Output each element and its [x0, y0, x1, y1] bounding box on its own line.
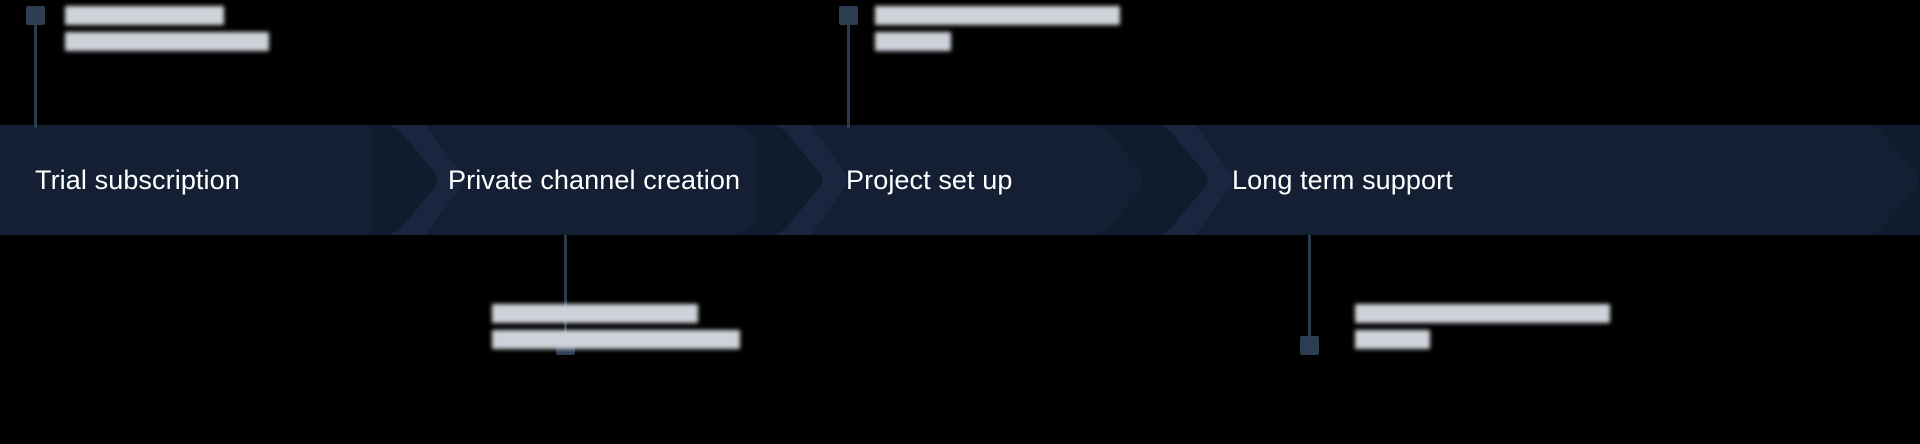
- annotation-1-marker: [26, 6, 45, 25]
- annotation-3-leader-line: [847, 18, 850, 128]
- annotation-4-line-1: [1355, 304, 1610, 323]
- stage-1-chevron[interactable]: Trial subscription: [0, 125, 402, 235]
- annotation-4-marker: [1300, 336, 1319, 355]
- diagram-canvas: Trial subscription Private channel creat…: [0, 0, 1920, 444]
- annotation-1: [0, 0, 400, 130]
- annotation-3-line-2: [875, 32, 951, 51]
- stage-2-chevron[interactable]: Private channel creation: [372, 125, 787, 235]
- stage-4-chevron[interactable]: Long term support: [1142, 125, 1920, 235]
- chevron-band: Trial subscription Private channel creat…: [0, 125, 1920, 235]
- annotation-4: [1200, 235, 1660, 444]
- annotation-2: [430, 235, 850, 444]
- annotation-1-leader-line: [34, 18, 37, 128]
- annotation-4-line-2: [1355, 330, 1430, 349]
- annotation-2-text: [492, 304, 740, 349]
- annotation-2-line-2: [492, 330, 740, 349]
- annotation-4-text: [1355, 304, 1610, 349]
- annotation-1-text: [65, 6, 269, 51]
- annotation-3-text: [875, 6, 1120, 51]
- annotation-3-line-1: [875, 6, 1120, 25]
- annotation-3: [820, 0, 1240, 130]
- annotation-1-line-2: [65, 32, 269, 51]
- annotation-3-marker: [839, 6, 858, 25]
- annotation-4-leader-line: [1308, 235, 1311, 343]
- annotation-2-line-1: [492, 304, 698, 323]
- stage-3-chevron[interactable]: Project set up: [757, 125, 1147, 235]
- stage-3-label: Project set up: [846, 165, 1013, 196]
- stage-4-label: Long term support: [1232, 165, 1453, 196]
- stage-2-label: Private channel creation: [448, 165, 740, 196]
- annotation-1-line-1: [65, 6, 224, 25]
- stage-1-label: Trial subscription: [35, 165, 240, 196]
